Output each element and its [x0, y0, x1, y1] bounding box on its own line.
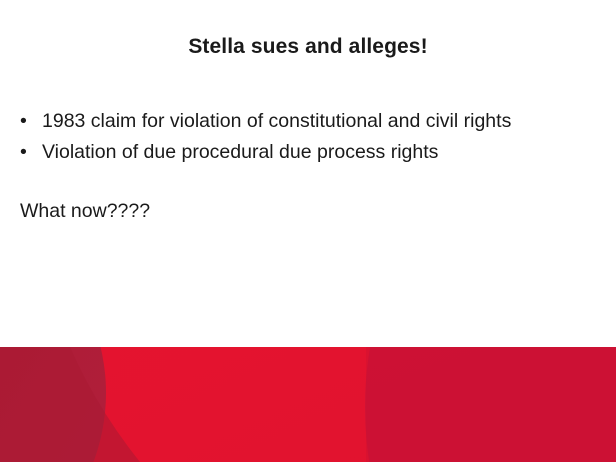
- list-item-label: Violation of due procedural due process …: [42, 141, 438, 163]
- slide-title: Stella sues and alleges!: [0, 34, 616, 60]
- slide-canvas: Stella sues and alleges! • 1983 claim fo…: [0, 0, 616, 462]
- list-item: • 1983 claim for violation of constituti…: [16, 106, 592, 136]
- footer-band-graphic: [0, 347, 616, 462]
- list-item-label: 1983 claim for violation of constitution…: [42, 110, 511, 132]
- slide-body: • 1983 claim for violation of constituti…: [16, 106, 592, 226]
- list-item: • Violation of due procedural due proces…: [16, 137, 592, 167]
- bullet-point-icon: •: [20, 106, 27, 136]
- footer-decorative-band: [0, 347, 616, 462]
- bullet-list: • 1983 claim for violation of constituti…: [16, 106, 592, 167]
- closing-question-text: What now????: [16, 196, 592, 226]
- bullet-point-icon: •: [20, 137, 27, 167]
- band-tonal-seam: [366, 347, 616, 462]
